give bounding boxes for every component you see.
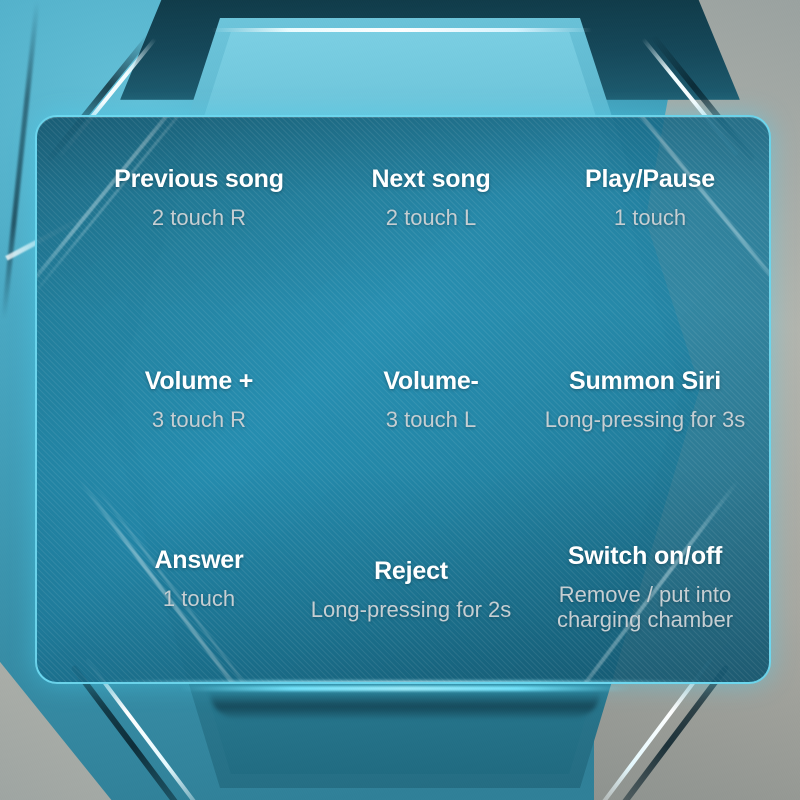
glass-bottom-edge-glow: [96, 681, 711, 684]
control-title: Previous song: [74, 166, 324, 194]
control-subtitle: 1 touch: [530, 205, 770, 230]
control-title: Summon Siri: [520, 368, 770, 396]
controls-grid: Previous song 2 touch R Next song 2 touc…: [37, 117, 769, 682]
control-subtitle: 2 touch L: [316, 205, 546, 230]
control-subtitle: 3 touch R: [74, 407, 324, 432]
control-subtitle: 2 touch R: [74, 205, 324, 230]
control-title: Play/Pause: [530, 166, 770, 194]
control-item-previous-song[interactable]: Previous song 2 touch R: [74, 166, 324, 230]
control-subtitle: 3 touch L: [316, 407, 546, 432]
control-item-volume-down[interactable]: Volume- 3 touch L: [316, 368, 546, 432]
control-item-summon-siri[interactable]: Summon Siri Long-pressing for 3s: [520, 368, 770, 432]
control-subtitle: Long-pressing for 3s: [520, 407, 770, 432]
controls-glass-panel: Previous song 2 touch R Next song 2 touc…: [35, 115, 771, 684]
product-feature-image: Previous song 2 touch R Next song 2 touc…: [0, 0, 800, 800]
control-title: Volume +: [74, 368, 324, 396]
control-title: Volume-: [316, 368, 546, 396]
control-title: Reject: [276, 558, 546, 586]
control-item-volume-up[interactable]: Volume + 3 touch R: [74, 368, 324, 432]
control-subtitle: Long-pressing for 2s: [276, 597, 546, 622]
control-subtitle: Remove / put into charging chamber: [520, 582, 770, 633]
control-title: Switch on/off: [520, 543, 770, 571]
control-item-next-song[interactable]: Next song 2 touch L: [316, 166, 546, 230]
control-item-switch-on-off[interactable]: Switch on/off Remove / put into charging…: [520, 543, 770, 632]
control-item-play-pause[interactable]: Play/Pause 1 touch: [530, 166, 770, 230]
control-item-reject[interactable]: Reject Long-pressing for 2s: [276, 558, 546, 622]
control-title: Next song: [316, 166, 546, 194]
